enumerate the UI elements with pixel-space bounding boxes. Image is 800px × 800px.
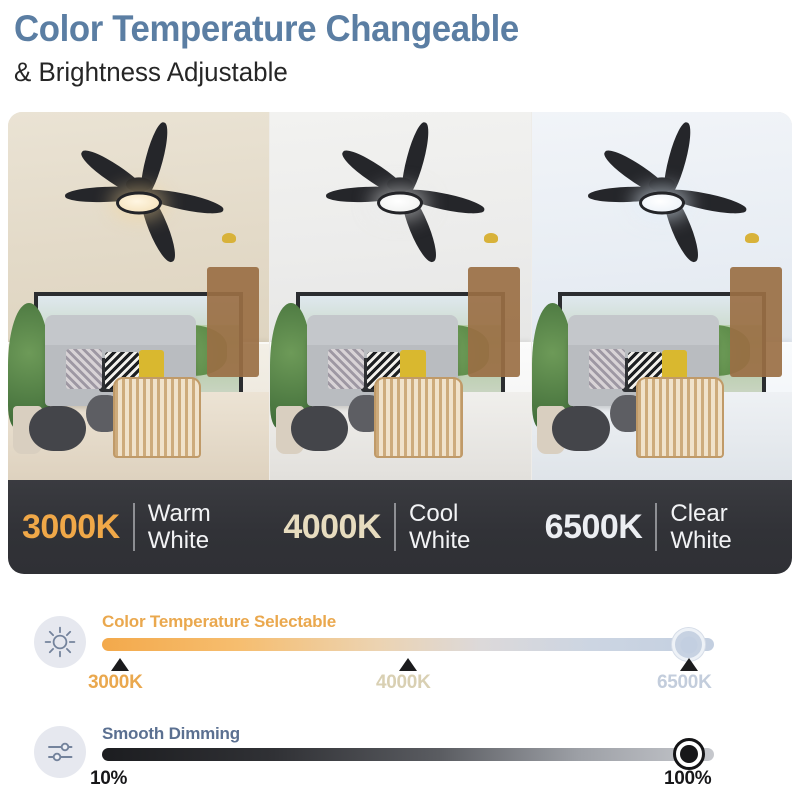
fan-light-glow: [639, 192, 685, 215]
kelvin-name-line2: White: [148, 527, 209, 554]
product-infographic: Color Temperature Changeable & Brightnes…: [0, 0, 800, 800]
heading-block: Color Temperature Changeable & Brightnes…: [14, 6, 794, 90]
dimming-slider-track[interactable]: [102, 748, 714, 761]
patterned-pillow: [66, 349, 102, 389]
page-subtitle: & Brightness Adjustable: [14, 54, 763, 90]
tick-label-4000k: 4000K: [376, 672, 431, 694]
kelvin-name-line2: White: [670, 527, 731, 554]
fan-light-glow: [116, 192, 162, 215]
kelvin-name-3000k: Warm White: [148, 500, 211, 554]
kelvin-group-3000k: 3000K Warm White: [8, 480, 269, 574]
dimming-min-label: 10%: [90, 768, 127, 790]
color-temperature-label-bar: 3000K Warm White 4000K Cool White 6500K …: [8, 480, 792, 574]
sun-icon: [34, 616, 86, 668]
kelvin-name-6500k: Clear White: [670, 500, 731, 554]
rattan-chair: [374, 377, 463, 458]
patterned-pillow: [589, 349, 625, 389]
dimming-slider-handle[interactable]: [673, 738, 705, 770]
kelvin-name-line1: Cool: [409, 500, 458, 527]
kelvin-name-4000k: Cool White: [409, 500, 470, 554]
sliders-icon: [34, 726, 86, 778]
ceiling-fan-icon: [44, 133, 234, 238]
tick-label-3000k: 3000K: [88, 672, 143, 694]
tick-label-6500k: 6500K: [657, 672, 712, 694]
table-lamp: [222, 233, 236, 243]
side-table: [468, 267, 520, 377]
side-table: [730, 267, 782, 377]
color-temperature-slider-track[interactable]: [102, 638, 714, 651]
color-temperature-label: Color Temperature Selectable: [102, 612, 336, 632]
color-temperature-control-row: Color Temperature Selectable 3000K 4000K…: [0, 602, 800, 698]
side-table: [207, 267, 259, 377]
kelvin-value-3000k: 3000K: [22, 508, 120, 547]
page-title: Color Temperature Changeable: [14, 6, 747, 52]
dimming-max-label: 100%: [664, 768, 711, 790]
kelvin-group-4000k: 4000K Cool White: [269, 480, 530, 574]
kelvin-divider: [655, 503, 657, 551]
kelvin-name-line2: White: [409, 527, 470, 554]
clear-white-scene: [531, 112, 792, 480]
cool-white-scene: [269, 112, 530, 480]
tick-marker-3000k: [111, 658, 129, 671]
kelvin-value-6500k: 6500K: [545, 508, 643, 547]
coffee-table: [552, 406, 609, 450]
dimming-control-row: Smooth Dimming 10% 100%: [0, 716, 800, 796]
ceiling-fan-icon: [305, 133, 495, 238]
scene-photo-strip: [8, 112, 792, 480]
kelvin-divider: [394, 503, 396, 551]
table-lamp: [745, 233, 759, 243]
fan-light-glow: [377, 192, 423, 215]
rattan-chair: [636, 377, 725, 458]
color-temperature-slider-handle[interactable]: [672, 628, 705, 661]
warm-white-scene: [8, 112, 269, 480]
tick-marker-4000k: [399, 658, 417, 671]
kelvin-divider: [133, 503, 135, 551]
kelvin-group-6500k: 6500K Clear White: [531, 480, 792, 574]
rattan-chair: [113, 377, 202, 458]
coffee-table: [291, 406, 348, 450]
table-lamp: [484, 233, 498, 243]
dimming-label: Smooth Dimming: [102, 724, 240, 744]
kelvin-name-line1: Warm: [148, 500, 211, 527]
patterned-pillow: [328, 349, 364, 389]
tick-marker-6500k: [680, 658, 698, 671]
ceiling-fan-icon: [567, 133, 757, 238]
coffee-table: [29, 406, 86, 450]
kelvin-value-4000k: 4000K: [283, 508, 381, 547]
kelvin-name-line1: Clear: [670, 500, 727, 527]
